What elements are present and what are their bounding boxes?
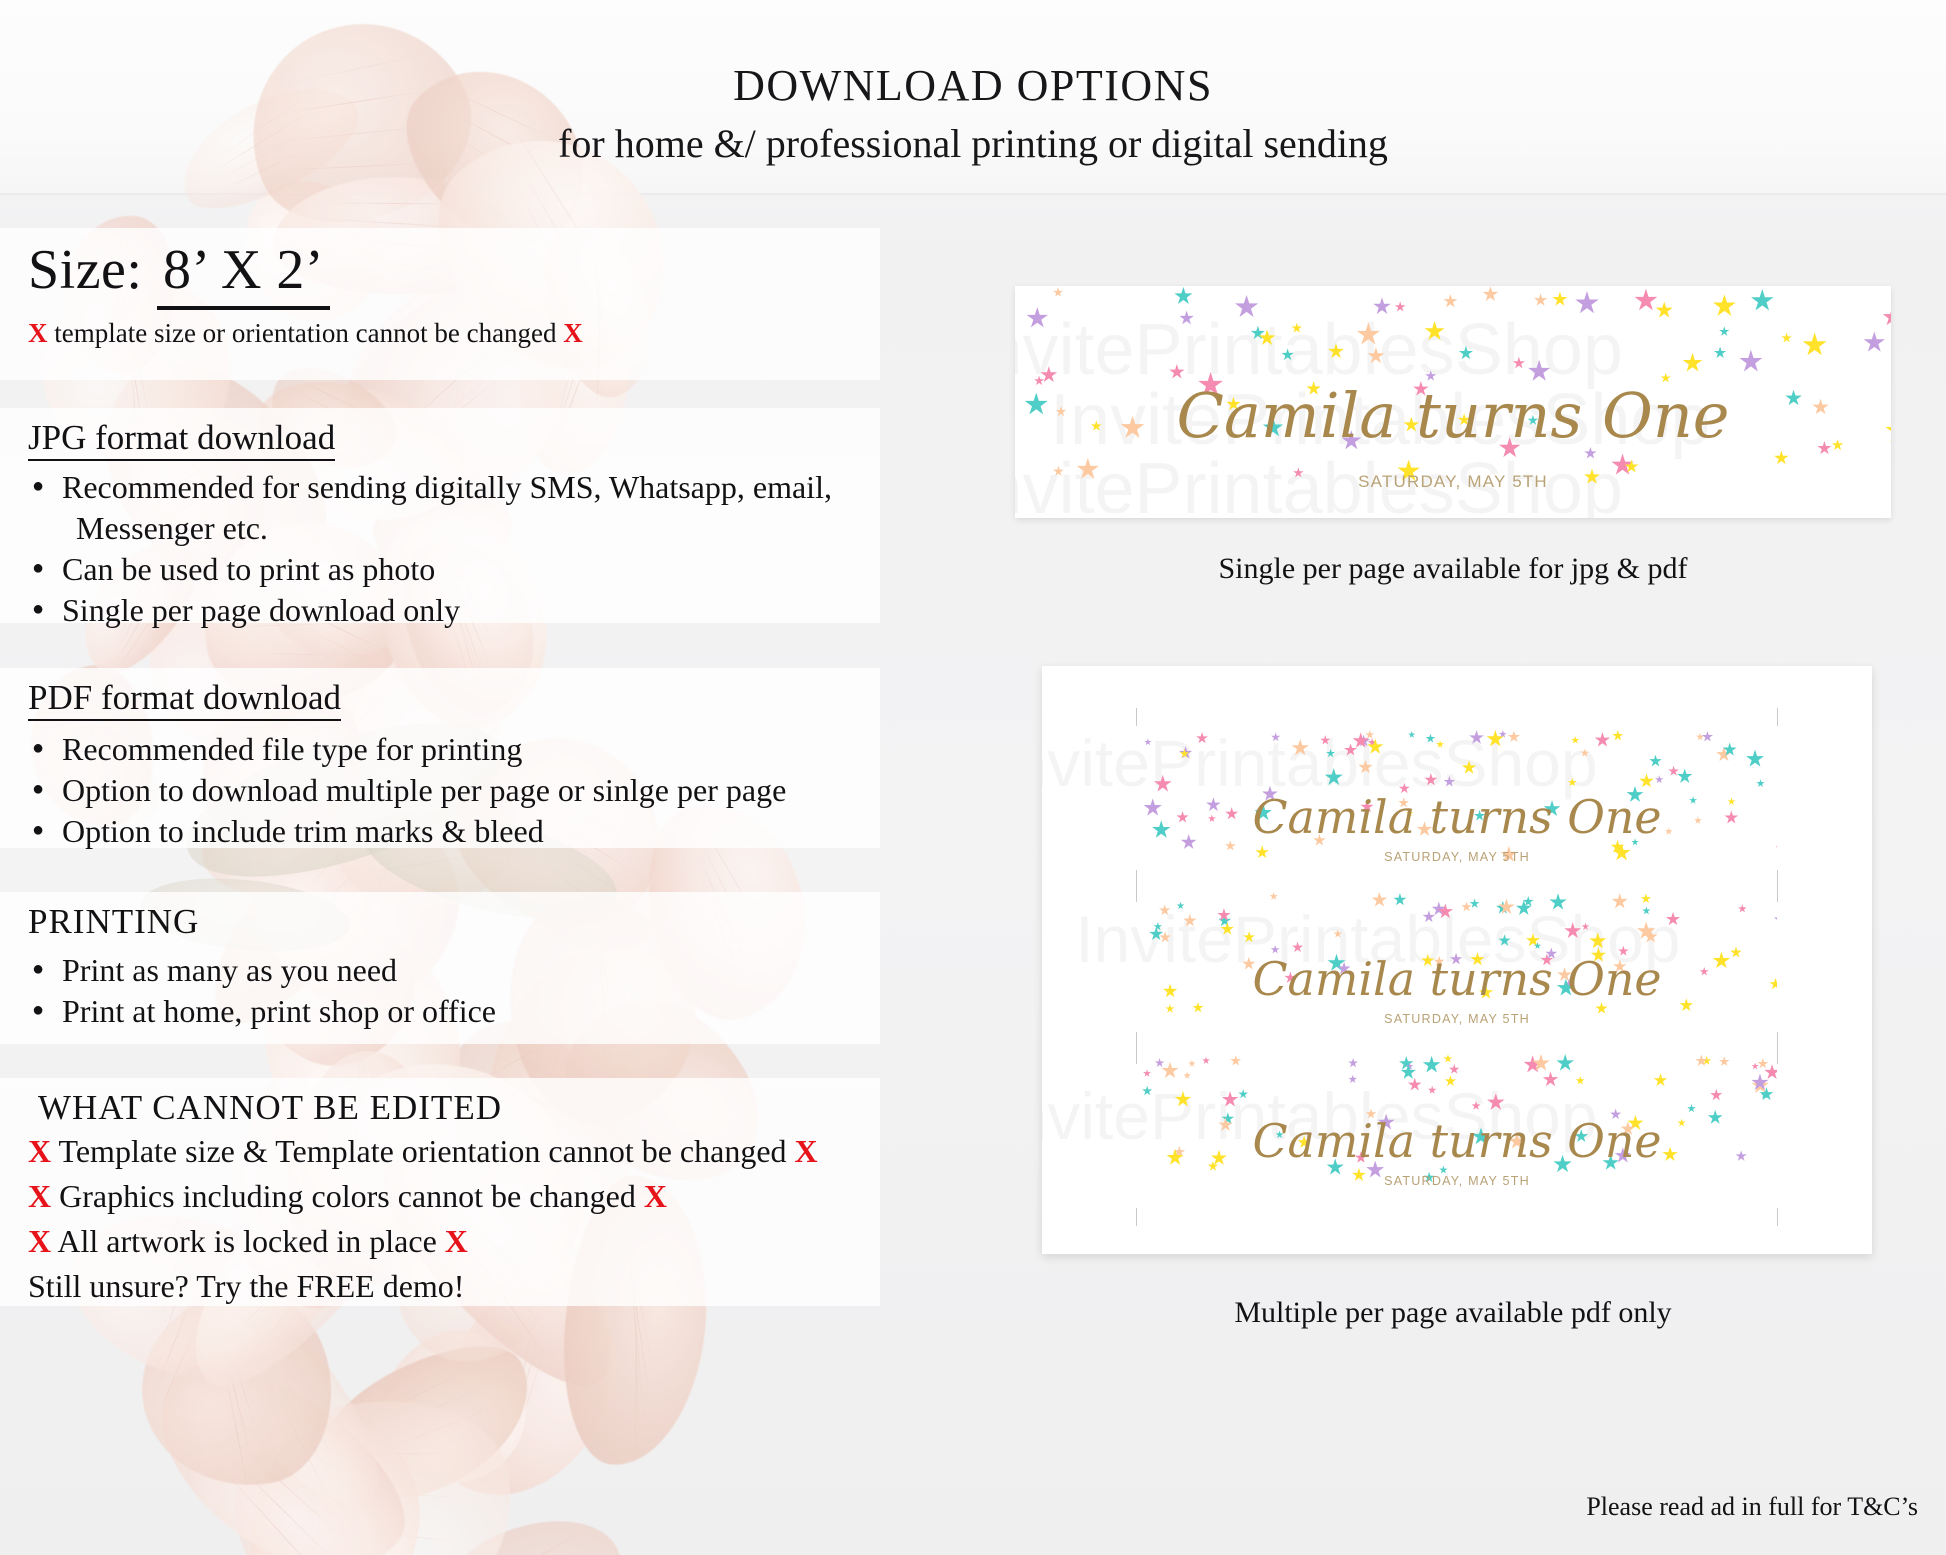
star-icon [1291, 739, 1309, 757]
list-item: Recommended file type for printing [28, 729, 786, 770]
jpg-bullet-list: Recommended for sending digitally SMS, W… [28, 467, 832, 631]
trim-mark [1777, 708, 1778, 726]
star-icon [1655, 301, 1673, 319]
star-icon [1589, 932, 1607, 950]
list-item: Single per page download only [28, 590, 832, 631]
star-icon [1612, 730, 1623, 741]
star-icon [1291, 323, 1302, 334]
star-icon [1459, 346, 1474, 361]
star-icon [1682, 353, 1702, 373]
banner-date-text: SATURDAY, MAY 5TH [1137, 1012, 1777, 1026]
star-icon [1482, 286, 1498, 302]
star-icon [1281, 348, 1294, 361]
star-icon [1269, 892, 1278, 901]
page-title: DOWNLOAD OPTIONS [0, 60, 1946, 111]
star-icon [1373, 297, 1391, 315]
jpg-heading: JPG format download [28, 418, 335, 461]
star-icon [1634, 289, 1658, 313]
star-icon [1234, 295, 1258, 319]
star-icon [1751, 289, 1774, 312]
star-icon [1571, 736, 1579, 744]
star-icon [1738, 904, 1747, 913]
jpg-section: JPG format download Recommended for send… [28, 418, 832, 631]
star-icon [1719, 326, 1730, 337]
star-icon [1348, 1075, 1357, 1084]
x-mark-icon: X [28, 318, 48, 348]
star-icon [1580, 749, 1589, 758]
trim-mark [1136, 870, 1137, 888]
preview-single-banner[interactable]: InvitePrintablesShopInvitePrintablesShop… [1015, 286, 1891, 518]
star-icon [1326, 749, 1335, 758]
star-icon [1687, 1104, 1696, 1113]
list-item: Can be used to print as photo [28, 549, 832, 590]
size-heading: Size: 8’ X 2’ [28, 238, 330, 310]
star-icon [1365, 730, 1374, 739]
star-icon [1508, 731, 1520, 743]
star-icon [1443, 776, 1455, 788]
star-icon [1564, 922, 1581, 939]
preview-multiple-sheet[interactable]: InvitePrintablesShopInvitePrintablesShop… [1042, 666, 1872, 1254]
star-icon [1424, 321, 1445, 342]
page-subtitle: for home &/ professional printing or dig… [0, 120, 1946, 167]
star-icon [1642, 907, 1651, 916]
trim-mark [1777, 1208, 1778, 1226]
star-icon [1470, 899, 1480, 909]
preview-multiple-caption: Multiple per page available pdf only [1015, 1296, 1891, 1330]
star-icon [1408, 731, 1415, 738]
banner-date-text: SATURDAY, MAY 5TH [1137, 850, 1777, 864]
x-mark-icon: X [644, 1178, 667, 1214]
star-icon [1356, 322, 1380, 346]
sheet-banner-copy: Camila turns OneSATURDAY, MAY 5TH [1137, 730, 1777, 880]
star-icon [1498, 934, 1511, 947]
star-icon [1764, 1064, 1777, 1080]
star-icon [1714, 347, 1727, 360]
printing-heading: PRINTING [28, 902, 496, 942]
star-icon [1179, 311, 1194, 326]
star-icon [1425, 734, 1435, 744]
star-icon [1534, 293, 1548, 307]
star-icon [1371, 892, 1387, 908]
star-icon [1222, 1091, 1239, 1108]
star-icon [1320, 735, 1330, 745]
star-icon [1487, 1093, 1505, 1111]
cannot-edit-section: WHAT CANNOT BE EDITED X Template size & … [28, 1088, 818, 1308]
trim-mark [1136, 1208, 1137, 1226]
star-icon [1393, 893, 1407, 907]
size-note-text: template size or orientation cannot be c… [54, 318, 556, 348]
star-icon [1668, 766, 1679, 777]
cannot-edit-line: X All artwork is locked in place X [28, 1220, 818, 1263]
star-icon [1174, 1091, 1191, 1108]
sheet-banner-copy: Camila turns OneSATURDAY, MAY 5TH [1137, 892, 1777, 1042]
trim-mark [1777, 870, 1778, 888]
star-icon [1155, 1058, 1165, 1068]
trim-mark [1136, 708, 1137, 726]
x-mark-icon: X [563, 318, 583, 348]
star-icon [1739, 350, 1763, 374]
banner-script-text: Camila turns One [1137, 952, 1777, 1006]
star-icon [1161, 1062, 1179, 1080]
cannot-edit-heading: WHAT CANNOT BE EDITED [28, 1088, 818, 1128]
star-icon [1655, 775, 1664, 784]
star-icon [1781, 333, 1792, 344]
star-icon [1436, 740, 1444, 748]
star-icon [1367, 347, 1385, 365]
printing-section: PRINTING Print as many as you need Print… [28, 902, 496, 1032]
trim-mark [1777, 1032, 1778, 1050]
star-icon [1513, 357, 1526, 370]
star-icon [1348, 1058, 1358, 1068]
star-icon [1641, 893, 1652, 904]
star-icon [1568, 778, 1577, 787]
star-icon [1710, 1089, 1723, 1102]
cannot-edit-text: Template size & Template orientation can… [59, 1133, 787, 1169]
star-icon [1153, 922, 1162, 931]
star-icon [1462, 760, 1477, 775]
x-mark-icon: X [28, 1178, 51, 1214]
cannot-edit-line: X Graphics including colors cannot be ch… [28, 1175, 818, 1218]
star-icon [1169, 364, 1185, 380]
star-icon [1271, 732, 1281, 742]
star-icon [1324, 768, 1343, 787]
trim-mark [1136, 1032, 1137, 1050]
x-mark-icon: X [445, 1223, 468, 1259]
banner-script-text: Camila turns One [1137, 790, 1777, 844]
star-icon [1443, 1054, 1452, 1063]
star-icon [1756, 779, 1765, 788]
footer-note: Please read ad in full for T&C’s [1586, 1492, 1918, 1522]
star-icon [1702, 731, 1713, 742]
star-icon [1445, 1075, 1457, 1087]
star-icon [1774, 912, 1777, 927]
star-icon [1719, 1056, 1730, 1067]
star-icon [1422, 910, 1435, 923]
cannot-edit-text: Still unsure? Try the FREE demo! [28, 1268, 464, 1304]
star-icon [1774, 451, 1789, 466]
banner-script-text: Camila turns One [1137, 1114, 1777, 1168]
star-icon [1202, 1057, 1210, 1065]
cannot-edit-text: Graphics including colors cannot be chan… [59, 1178, 636, 1214]
star-icon [1344, 743, 1357, 756]
star-icon [1196, 732, 1208, 744]
banner-date-text: SATURDAY, MAY 5TH [1137, 1174, 1777, 1188]
star-icon [1802, 333, 1827, 358]
star-icon [1230, 1055, 1241, 1066]
size-note: X template size or orientation cannot be… [28, 318, 583, 349]
star-icon [1746, 750, 1765, 769]
banner-artwork: Camila turns OneSATURDAY, MAY 5TH [1137, 1054, 1777, 1204]
star-icon [1174, 287, 1193, 306]
list-item: Print at home, print shop or office [28, 991, 496, 1032]
star-icon [1556, 1054, 1574, 1072]
sheet-banner-copy: Camila turns OneSATURDAY, MAY 5TH [1137, 1054, 1777, 1204]
star-icon [1328, 343, 1344, 359]
star-icon [1461, 902, 1472, 913]
banner-artwork: InvitePrintablesShopInvitePrintablesShop… [1015, 286, 1891, 518]
star-icon [1026, 307, 1048, 329]
star-icon [1677, 769, 1693, 785]
star-icon [1486, 730, 1504, 748]
star-icon [1757, 1058, 1768, 1069]
banner-artwork: Camila turns OneSATURDAY, MAY 5TH [1137, 730, 1777, 880]
star-icon [1653, 1073, 1667, 1087]
star-icon [1882, 307, 1891, 327]
star-icon [1449, 1064, 1460, 1075]
star-icon [1188, 1060, 1196, 1068]
star-icon [1424, 773, 1437, 786]
star-icon [1144, 738, 1152, 746]
star-icon [1159, 904, 1171, 916]
star-icon [1471, 1101, 1481, 1111]
star-icon [1358, 760, 1373, 775]
cannot-edit-text: All artwork is locked in place [57, 1223, 436, 1259]
star-icon [1863, 331, 1885, 353]
star-icon [1176, 902, 1184, 910]
star-icon [1542, 1071, 1558, 1087]
star-icon [1552, 292, 1568, 308]
list-item: Messenger etc. [28, 508, 832, 549]
star-icon [1395, 301, 1406, 312]
list-item: Option to include trim marks & bleed [28, 811, 786, 852]
star-icon [1639, 773, 1654, 788]
star-icon [1183, 914, 1197, 928]
star-icon [1751, 1062, 1759, 1070]
star-icon [1581, 922, 1589, 930]
star-icon [1183, 1072, 1191, 1080]
printing-bullet-list: Print as many as you need Print at home,… [28, 950, 496, 1032]
star-icon [1575, 291, 1599, 315]
star-icon [1243, 931, 1255, 943]
cannot-edit-line: X Template size & Template orientation c… [28, 1130, 818, 1173]
list-item: Print as many as you need [28, 950, 496, 991]
list-item: Option to download multiple per page or … [28, 770, 786, 811]
star-icon [1422, 1056, 1440, 1074]
star-icon [1142, 1086, 1152, 1096]
star-icon [1333, 929, 1342, 938]
star-icon [1053, 287, 1063, 297]
pdf-bullet-list: Recommended file type for printing Optio… [28, 729, 786, 852]
star-icon [1443, 294, 1458, 309]
banner-script-text: Camila turns One [1015, 379, 1891, 452]
star-icon [1367, 738, 1384, 755]
pdf-heading: PDF format download [28, 678, 341, 721]
star-icon [1143, 1069, 1151, 1077]
banner-date-text: SATURDAY, MAY 5TH [1015, 472, 1891, 492]
star-icon [1696, 733, 1704, 741]
star-icon [1428, 1086, 1437, 1095]
star-icon [1408, 1078, 1422, 1092]
x-mark-icon: X [28, 1223, 51, 1259]
pdf-section: PDF format download Recommended file typ… [28, 678, 786, 852]
star-icon [1611, 893, 1628, 910]
star-icon [1549, 893, 1567, 911]
star-icon [1713, 294, 1737, 318]
preview-single-caption: Single per page available for jpg & pdf [1015, 552, 1891, 586]
star-icon [1238, 1089, 1248, 1099]
x-mark-icon: X [795, 1133, 818, 1169]
size-value: 8’ X 2’ [157, 238, 330, 310]
x-mark-icon: X [28, 1133, 51, 1169]
poster-page: DOWNLOAD OPTIONS for home &/ professiona… [0, 0, 1946, 1555]
size-label: Size: [28, 239, 142, 301]
star-icon [1469, 730, 1484, 745]
star-icon [1649, 755, 1662, 768]
banner-artwork: Camila turns OneSATURDAY, MAY 5TH [1137, 892, 1777, 1042]
cannot-edit-line: Still unsure? Try the FREE demo! [28, 1265, 818, 1308]
star-icon [1400, 1064, 1416, 1080]
star-icon [1576, 1076, 1585, 1085]
star-icon [1594, 732, 1610, 748]
list-item: Recommended for sending digitally SMS, W… [28, 467, 832, 508]
star-icon [1666, 912, 1681, 927]
